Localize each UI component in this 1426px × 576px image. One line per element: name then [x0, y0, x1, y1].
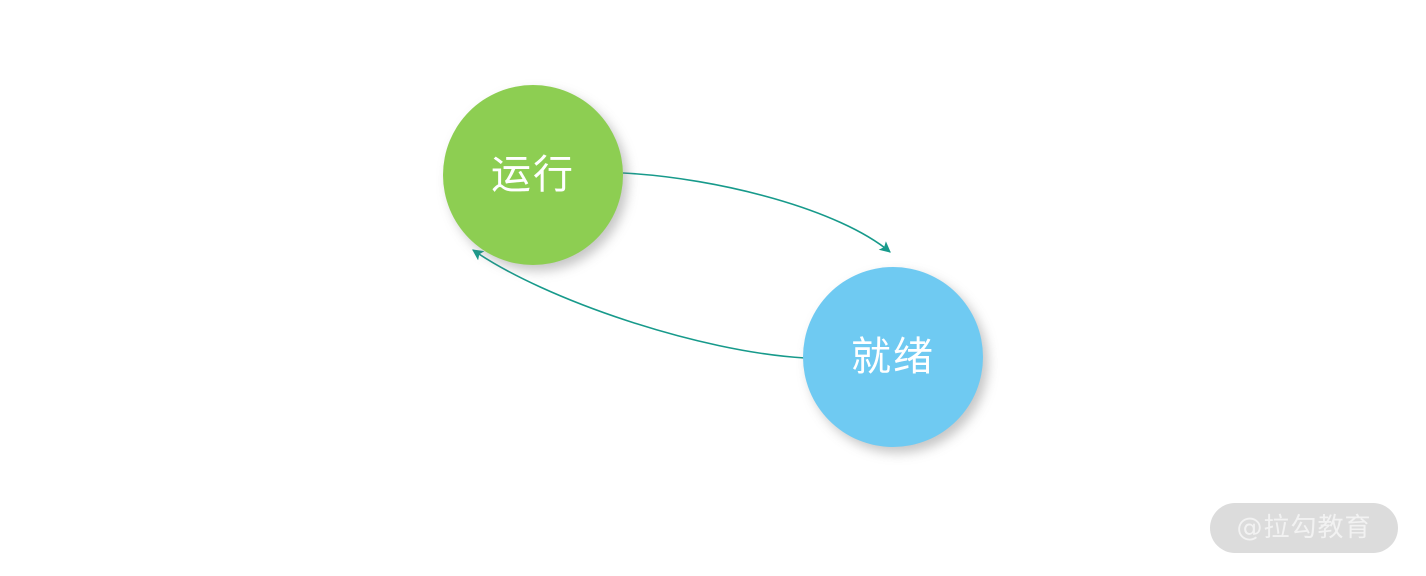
- watermark-badge: @拉勾教育: [1210, 503, 1398, 553]
- edges-layer: [0, 0, 1426, 576]
- node-ready-label: 就绪: [851, 337, 935, 377]
- edge-ready-to-running: [473, 250, 805, 358]
- node-running[interactable]: 运行: [443, 85, 623, 265]
- watermark-text: @拉勾教育: [1236, 515, 1371, 541]
- diagram-canvas: 运行 就绪 @拉勾教育: [0, 0, 1426, 576]
- edge-running-to-ready: [623, 173, 890, 252]
- node-running-label: 运行: [491, 155, 575, 195]
- node-ready[interactable]: 就绪: [803, 267, 983, 447]
